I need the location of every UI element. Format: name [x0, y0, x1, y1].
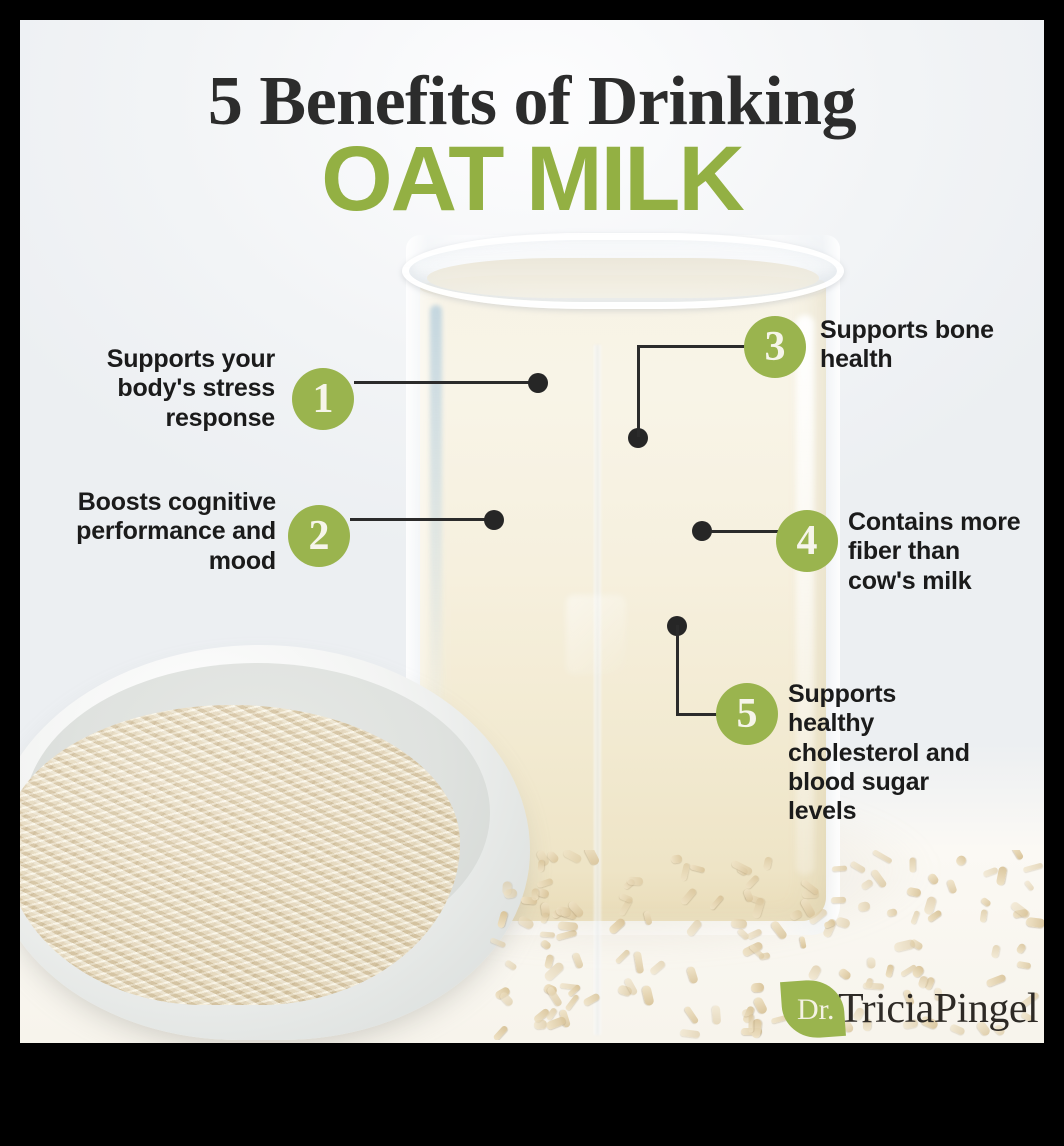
oat-flake: [743, 888, 754, 903]
oat-flake: [1017, 961, 1032, 969]
oat-flake: [893, 939, 915, 952]
benefit-1-connector: [354, 381, 540, 384]
oat-flake: [712, 1005, 721, 1025]
oat-flake: [490, 937, 506, 948]
leaf-icon: Dr.: [780, 978, 846, 1040]
oat-flake: [556, 929, 578, 940]
benefit-3-connector-vertical: [637, 345, 640, 437]
oat-flake: [608, 917, 627, 935]
oat-flake: [906, 887, 921, 898]
benefit-3-connector-horizontal: [637, 345, 747, 348]
benefit-5-connector-vertical: [676, 625, 679, 716]
oat-flake: [927, 872, 940, 886]
oat-flake: [982, 867, 998, 878]
benefit-4-label: Contains more fiber than cow's milk: [848, 508, 1028, 596]
benefit-1-label: Supports your body's stress response: [50, 345, 275, 433]
oat-flake: [1012, 850, 1024, 861]
benefit-4-pointer-dot: [692, 521, 712, 541]
oat-flake: [685, 918, 703, 937]
oat-flake: [615, 949, 631, 964]
benefit-5-badge[interactable]: 5: [716, 683, 778, 745]
oat-flake: [562, 850, 583, 864]
oat-flake: [831, 897, 846, 904]
oat-flake: [670, 854, 682, 863]
oat-flake: [1023, 862, 1044, 872]
oat-flake: [954, 854, 967, 867]
jar-emboss: [566, 595, 626, 675]
oat-flake: [540, 939, 552, 951]
infographic-frame: 5 Benefits of Drinking OAT MILK Supports…: [0, 0, 1064, 1146]
benefit-4-connector: [710, 530, 778, 533]
logo-prefix: Dr.: [797, 993, 835, 1027]
oat-flake: [832, 865, 847, 871]
oat-flake: [582, 992, 600, 1006]
oat-flake: [536, 878, 553, 889]
oat-flake: [1026, 917, 1044, 928]
oat-flake: [684, 1005, 700, 1024]
oat-flake: [857, 901, 870, 912]
oat-flake: [540, 931, 555, 937]
oat-flake: [731, 918, 748, 928]
oat-flake: [886, 908, 897, 917]
page-title: 5 Benefits of Drinking OAT MILK: [20, 68, 1044, 225]
title-line-2: OAT MILK: [20, 133, 1044, 225]
oat-flake: [872, 850, 893, 864]
benefit-1-pointer-dot: [528, 373, 548, 393]
oat-flake: [789, 909, 803, 922]
oat-flake: [751, 983, 765, 993]
benefit-5-label: Supports healthy cholesterol and blood s…: [788, 680, 978, 826]
oat-flake: [537, 860, 544, 872]
oat-flake: [499, 991, 515, 1008]
oat-flake: [850, 860, 867, 873]
jar-rim: [402, 233, 844, 309]
oat-flake: [748, 1014, 753, 1032]
oat-flake: [493, 1025, 509, 1040]
oat-flake: [565, 994, 580, 1011]
oat-flake: [558, 921, 579, 931]
oat-flake: [1024, 880, 1035, 892]
brand-logo[interactable]: Dr. TriciaPingel: [782, 978, 1038, 1040]
oat-flake: [497, 910, 508, 928]
oat-flake: [546, 986, 563, 1008]
oat-flake: [763, 856, 773, 870]
benefit-2-pointer-dot: [484, 510, 504, 530]
oat-flake: [910, 858, 916, 873]
logo-name: TriciaPingel: [838, 985, 1038, 1033]
oat-flake: [686, 966, 699, 985]
oat-flake: [504, 959, 517, 971]
benefit-2-connector: [350, 518, 494, 521]
rolled-oats: [20, 705, 460, 1005]
oat-flake: [641, 985, 654, 1007]
oat-flake: [649, 959, 667, 975]
oats-bowl: [20, 645, 530, 1040]
oat-flake: [910, 910, 920, 925]
oat-flake: [870, 868, 887, 888]
oat-flake: [680, 863, 690, 882]
oat-flake: [690, 864, 706, 873]
oat-flake: [627, 877, 643, 886]
oat-flake: [746, 928, 762, 940]
oat-flake: [980, 909, 988, 923]
oat-flake: [799, 936, 806, 949]
benefit-3-badge[interactable]: 3: [744, 316, 806, 378]
oat-flake: [744, 874, 759, 890]
oat-flake: [753, 996, 769, 1015]
benefit-1-badge[interactable]: 1: [292, 368, 354, 430]
oat-flake: [1015, 942, 1026, 954]
oat-flake: [946, 879, 957, 895]
oat-flake: [680, 1029, 701, 1038]
oat-flake: [643, 910, 652, 925]
oat-flake: [867, 957, 875, 968]
oat-flake: [531, 888, 538, 900]
oat-flake: [517, 915, 535, 931]
benefit-4-badge[interactable]: 4: [776, 510, 838, 572]
photo-canvas: 5 Benefits of Drinking OAT MILK Supports…: [20, 20, 1044, 1043]
oat-flake: [709, 894, 724, 910]
title-line-1: 5 Benefits of Drinking: [20, 68, 1044, 135]
benefit-2-label: Boosts cognitive performance and mood: [68, 488, 276, 576]
oat-flake: [835, 916, 851, 929]
oat-flake: [572, 952, 584, 969]
oat-flake: [860, 878, 874, 890]
oat-flake: [991, 944, 1001, 958]
oat-flake: [680, 887, 698, 906]
oat-flake: [634, 951, 644, 974]
oat-flake: [583, 850, 600, 866]
jar-rim-inner: [427, 258, 819, 298]
benefit-2-badge[interactable]: 2: [288, 505, 350, 567]
oat-flake: [770, 920, 788, 941]
oat-flake: [980, 897, 992, 908]
oat-flake: [885, 964, 894, 978]
benefit-3-label: Supports bone health: [820, 316, 1030, 375]
oat-flake: [503, 888, 517, 899]
